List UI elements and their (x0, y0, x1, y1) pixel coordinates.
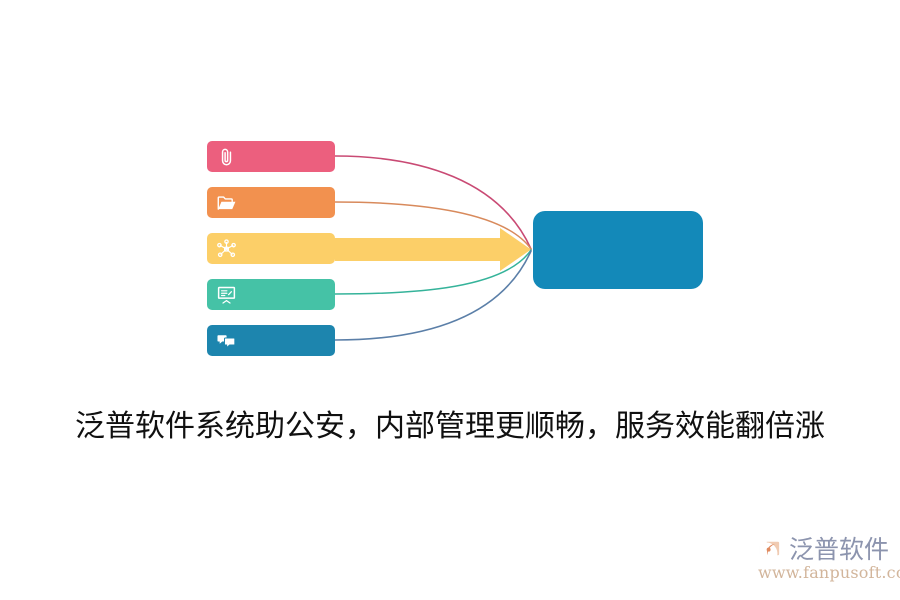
brand-name: 泛普软件 (789, 535, 889, 565)
brand-lockup: 泛普软件 (757, 534, 889, 566)
brand-watermark: 泛普软件 www.fanpusoft.com (757, 534, 893, 584)
brand-url: www.fanpusoft.com (758, 564, 900, 582)
page-title: 泛普软件系统助公安，内部管理更顺畅，服务效能翻倍涨 (0, 405, 900, 449)
funnel-diagram (0, 0, 900, 380)
presentation-board-icon (216, 284, 237, 305)
funnel-item-open-folder[interactable] (207, 187, 335, 218)
open-folder-icon (216, 192, 237, 213)
funnel-item-paperclip[interactable] (207, 141, 335, 172)
page-canvas: 泛普软件系统助公安，内部管理更顺畅，服务效能翻倍涨 泛普软件 www.fanpu… (0, 0, 900, 600)
chat-bubbles-icon (216, 330, 237, 351)
fanpu-logo-icon (757, 535, 787, 565)
network-hub-icon (216, 238, 237, 259)
funnel-item-network-hub[interactable] (207, 233, 335, 264)
funnel-target-box[interactable] (533, 211, 703, 289)
funnel-target-label (533, 211, 703, 289)
paperclip-icon (216, 146, 237, 167)
yellow-arrow (335, 228, 531, 271)
funnel-item-presentation-board[interactable] (207, 279, 335, 310)
funnel-item-chat-bubbles[interactable] (207, 325, 335, 356)
connector-lines-layer (0, 0, 900, 380)
